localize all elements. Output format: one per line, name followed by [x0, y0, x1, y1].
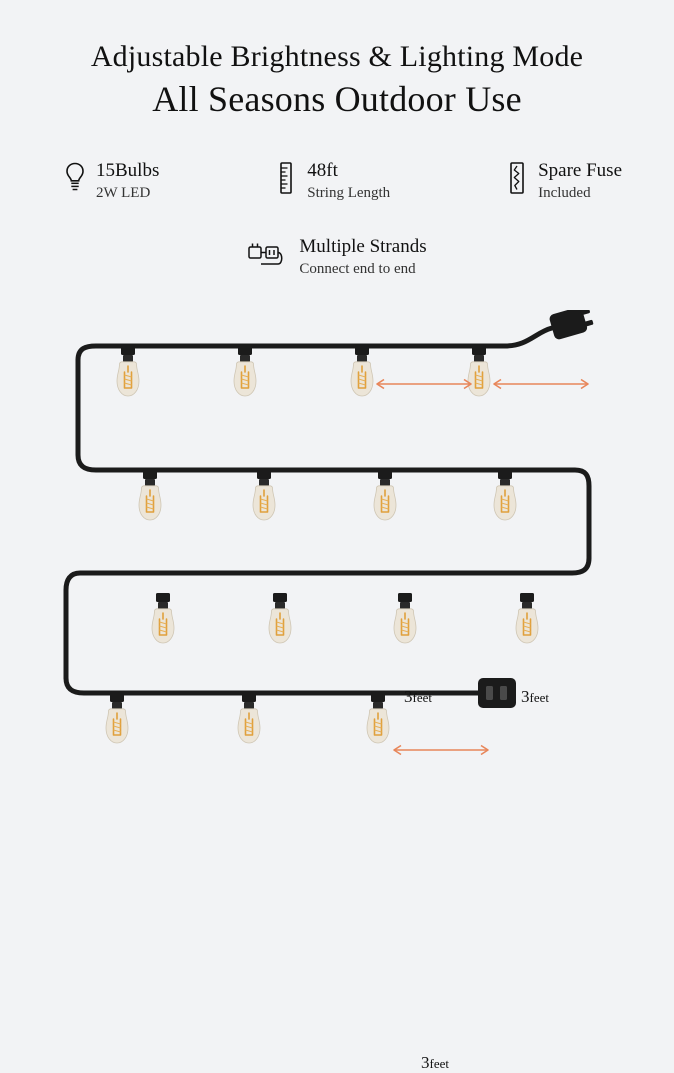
feature-multiple-strands-row: Multiple Strands Connect end to end [0, 236, 674, 280]
feature-bulbs-subtitle: 2W LED [96, 184, 159, 204]
measure-label-2-number: 3 [521, 687, 530, 706]
bulb-row-1 [117, 346, 490, 396]
plug-connector-icon [247, 236, 291, 280]
feature-length-text: 48ft String Length [307, 160, 390, 203]
feature-length-subtitle: String Length [307, 184, 390, 204]
bulb-row-4 [106, 693, 389, 743]
heading-block: Adjustable Brightness & Lighting Mode Al… [0, 40, 674, 120]
feature-bulbs-text: 15Bulbs 2W LED [96, 160, 159, 203]
feature-fuse-title: Spare Fuse [538, 160, 622, 182]
feature-length: 48ft String Length [273, 160, 390, 203]
measure-label-1-unit: feet [413, 690, 432, 705]
ruler-icon [273, 160, 299, 201]
page-title-line-1: Adjustable Brightness & Lighting Mode [0, 40, 674, 74]
feature-list: 15Bulbs 2W LED 48ft String Length [62, 160, 622, 203]
male-plug [505, 310, 595, 346]
bulb-row-3 [152, 593, 538, 643]
product-infographic: Adjustable Brightness & Lighting Mode Al… [0, 0, 674, 879]
feature-bulbs: 15Bulbs 2W LED [62, 160, 159, 203]
feature-multiple-strands-subtitle: Connect end to end [299, 260, 426, 280]
page-title-line-2: All Seasons Outdoor Use [0, 78, 674, 120]
feature-length-title: 48ft [307, 160, 390, 182]
bulb-row-2 [139, 470, 516, 520]
feature-fuse-subtitle: Included [538, 184, 622, 204]
measure-label-3-unit: feet [430, 1056, 449, 1071]
measure-label-1: 3feet [404, 687, 432, 707]
measure-label-1-number: 3 [404, 687, 413, 706]
string-light-svg [0, 310, 674, 850]
measure-label-3: 3feet [421, 1053, 449, 1073]
feature-multiple-strands: Multiple Strands Connect end to end [247, 236, 426, 280]
feature-fuse: Spare Fuse Included [504, 160, 622, 203]
feature-bulbs-title: 15Bulbs [96, 160, 159, 182]
string-light-diagram: 3feet 3feet 3feet [0, 310, 674, 850]
feature-multiple-strands-text: Multiple Strands Connect end to end [299, 236, 426, 279]
fuse-icon [504, 160, 530, 201]
measure-label-2: 3feet [521, 687, 549, 707]
female-connector [478, 678, 516, 708]
feature-multiple-strands-title: Multiple Strands [299, 236, 426, 258]
measure-label-3-number: 3 [421, 1053, 430, 1072]
feature-fuse-text: Spare Fuse Included [538, 160, 622, 203]
bulb-icon [62, 160, 88, 201]
measure-label-2-unit: feet [530, 690, 549, 705]
